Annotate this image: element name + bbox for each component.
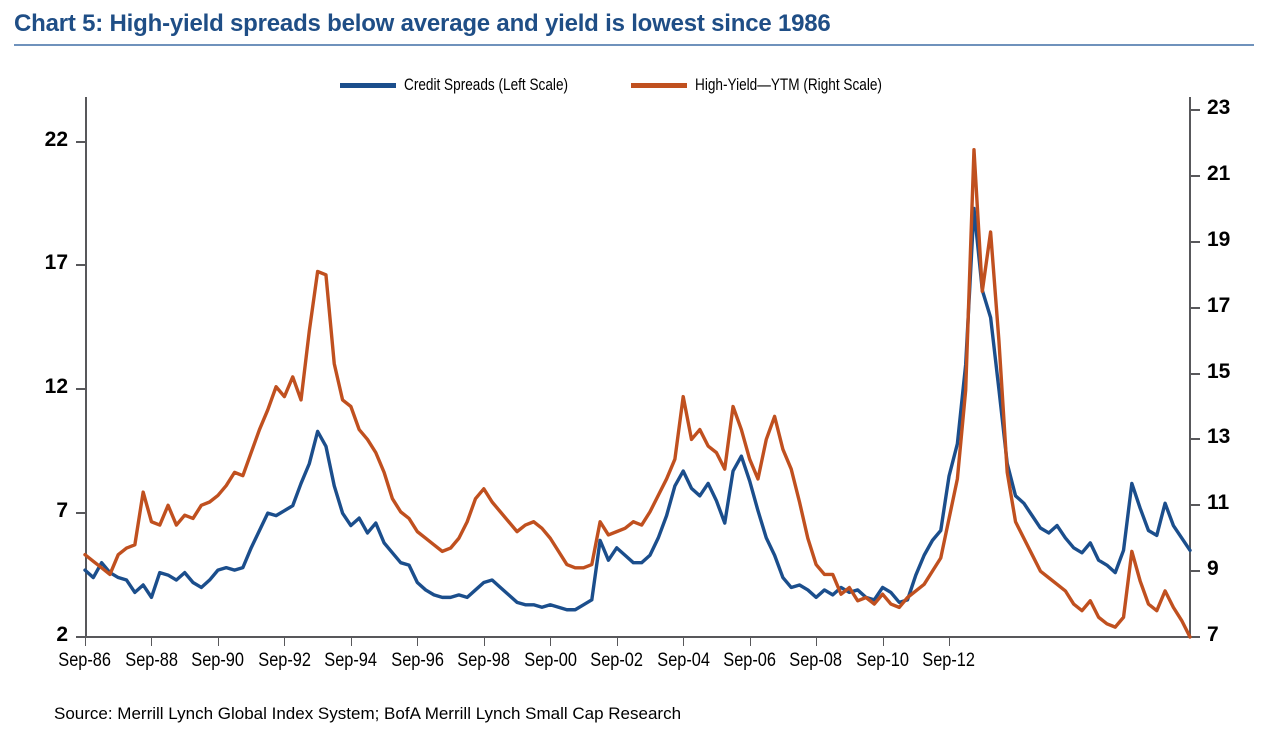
source-note: Source: Merrill Lynch Global Index Syste… (54, 704, 681, 724)
y-axis-right-tick (1189, 570, 1200, 572)
title-underline-rule (14, 44, 1254, 46)
x-axis-tick (484, 637, 485, 646)
x-axis-tick (550, 637, 551, 646)
y-axis-left-tick (76, 141, 86, 143)
y-axis-right-tick-label: 7 (1207, 623, 1253, 647)
y-axis-right-line (1189, 97, 1191, 637)
y-axis-right-tick-label: 13 (1207, 425, 1253, 449)
y-axis-right-tick (1189, 109, 1200, 111)
y-axis-left-tick (76, 388, 86, 390)
legend-swatch-icon (631, 83, 687, 88)
x-axis-tick (883, 637, 884, 646)
y-axis-right-tick (1189, 241, 1200, 243)
x-axis-tick (218, 637, 219, 646)
y-axis-left-tick-label: 17 (22, 251, 68, 275)
legend-item-high-yield-ytm[interactable]: High-Yield—YTM (Right Scale) (631, 75, 929, 95)
series-line-credit-spreads (85, 208, 1190, 609)
chart-legend: Credit Spreads (Left Scale)High-Yield—YT… (0, 70, 1268, 100)
y-axis-right-tick (1189, 307, 1200, 309)
x-axis-tick (151, 637, 152, 646)
x-axis-tick (284, 637, 285, 646)
x-axis-tick (617, 637, 618, 646)
y-axis-right-tick (1189, 373, 1200, 375)
y-axis-left-tick-label: 22 (22, 128, 68, 152)
legend-swatch-icon (340, 83, 396, 88)
y-axis-right-tick-label: 21 (1207, 162, 1253, 186)
y-axis-right-tick (1189, 636, 1200, 638)
y-axis-right-tick (1189, 504, 1200, 506)
legend-label: High-Yield—YTM (Right Scale) (695, 75, 882, 95)
x-axis-tick (417, 637, 418, 646)
x-axis-tick (949, 637, 950, 646)
y-axis-right-tick-label: 15 (1207, 360, 1253, 384)
page-title: Chart 5: High-yield spreads below averag… (14, 10, 831, 38)
y-axis-left-line (85, 97, 87, 637)
y-axis-right-tick-label: 23 (1207, 96, 1253, 120)
y-axis-left-tick-label: 7 (22, 499, 68, 523)
legend-item-credit-spreads[interactable]: Credit Spreads (Left Scale) (340, 75, 609, 95)
y-axis-left-tick-label: 12 (22, 375, 68, 399)
legend-label: Credit Spreads (Left Scale) (404, 75, 568, 95)
x-axis-line (85, 636, 1190, 638)
y-axis-right-tick (1189, 175, 1200, 177)
series-line-high-yield-ytm (85, 150, 1190, 637)
x-axis-tick (750, 637, 751, 646)
chart-page: Chart 5: High-yield spreads below averag… (0, 0, 1268, 737)
y-axis-right-tick-label: 9 (1207, 557, 1253, 581)
y-axis-right-tick-label: 11 (1207, 491, 1253, 515)
y-axis-right-tick-label: 19 (1207, 228, 1253, 252)
series-plot (0, 0, 1268, 737)
y-axis-left-tick (76, 264, 86, 266)
y-axis-left-tick (76, 512, 86, 514)
x-axis-tick (816, 637, 817, 646)
x-axis-tick (351, 637, 352, 646)
y-axis-right-tick-label: 17 (1207, 294, 1253, 318)
y-axis-right-tick (1189, 438, 1200, 440)
x-axis-tick-label: Sep-12 (909, 650, 989, 672)
x-axis-tick (85, 637, 86, 646)
y-axis-left-tick-label: 2 (22, 623, 68, 647)
x-axis-tick (683, 637, 684, 646)
